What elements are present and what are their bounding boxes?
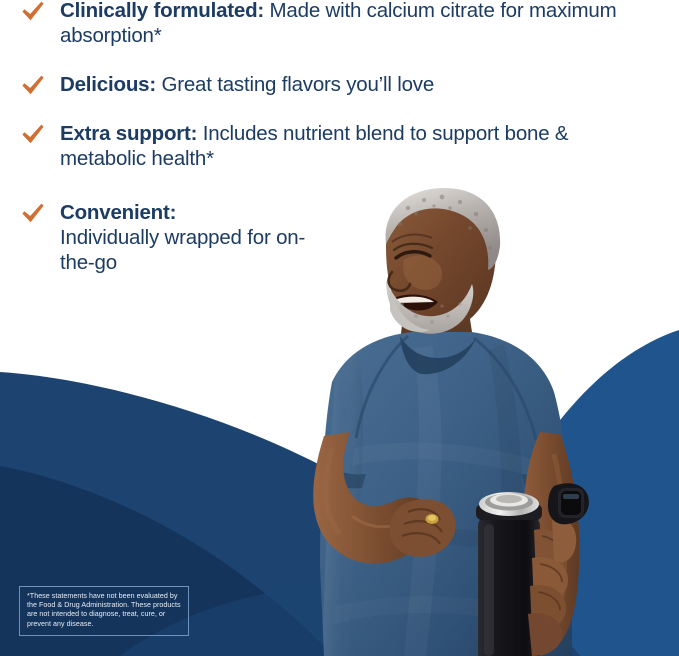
list-item: Extra support: Includes nutrient blend t… [0,121,648,171]
list-item: Clinically formulated: Made with calcium… [0,0,648,48]
checkmark-icon [20,202,46,226]
benefit-text: Convenient:Individually wrapped for on-t… [60,200,310,275]
benefit-lead: Delicious: [60,73,156,96]
benefit-body: Great tasting flavors you’ll love [156,73,434,96]
checkmark-icon [20,0,46,24]
benefit-lead: Extra support: [60,122,197,145]
list-item: Delicious: Great tasting flavors you’ll … [0,72,648,98]
checkmark-icon [20,123,46,147]
disclaimer-text: *These statements have not been evaluate… [27,592,181,629]
benefit-text: Clinically formulated: Made with calcium… [60,0,648,48]
list-item: Convenient:Individually wrapped for on-t… [0,200,648,275]
smartwatch [548,483,589,524]
benefit-text: Extra support: Includes nutrient blend t… [60,121,648,171]
disclaimer-box: *These statements have not been evaluate… [19,586,189,636]
benefit-lead: Clinically formulated: [60,0,264,22]
benefits-list: Clinically formulated: Made with calcium… [0,0,648,275]
product-benefits-panel: Clinically formulated: Made with calcium… [0,0,679,656]
benefit-text: Delicious: Great tasting flavors you’ll … [60,72,648,97]
benefit-body: Individually wrapped for on-the-go [60,226,305,274]
checkmark-icon [20,74,46,98]
benefit-lead: Convenient: [60,200,310,225]
